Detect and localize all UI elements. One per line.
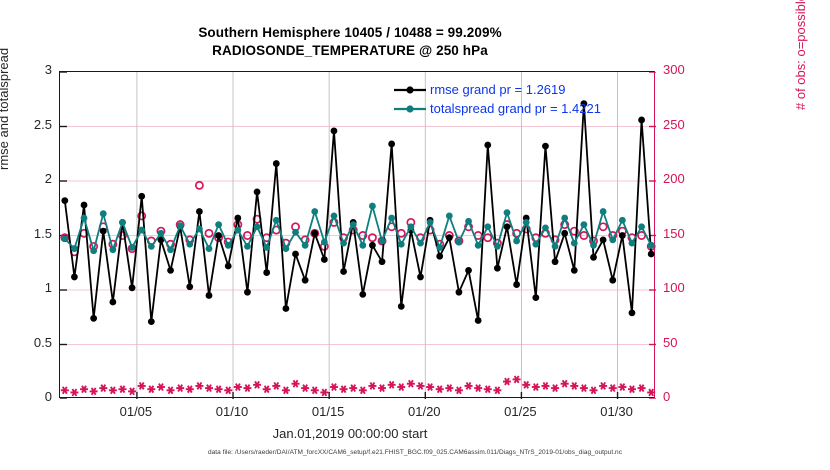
series-point-totalspread-16 [215, 221, 222, 228]
obs-assimilated-marker-11 [167, 387, 175, 394]
y-tick-left-3: 1.5 [8, 226, 52, 241]
series-point-rmse-55 [590, 254, 597, 261]
series-point-rmse-43 [475, 317, 482, 324]
series-point-rmse-15 [206, 292, 213, 299]
series-point-totalspread-4 [100, 210, 107, 217]
series-point-totalspread-13 [186, 241, 193, 248]
series-point-totalspread-44 [484, 223, 491, 230]
series-point-totalspread-9 [148, 243, 155, 250]
obs-assimilated-marker-17 [224, 387, 232, 394]
series-point-rmse-45 [494, 265, 501, 272]
obs-assimilated-marker-47 [513, 376, 521, 383]
obs-assimilated-marker-0 [61, 387, 69, 394]
series-point-totalspread-6 [119, 219, 126, 226]
series-point-totalspread-20 [254, 223, 261, 230]
x-tick-1: 01/10 [197, 404, 267, 419]
series-point-totalspread-12 [177, 222, 184, 229]
y-tick-right-0: 0 [663, 389, 707, 404]
series-point-rmse-27 [321, 256, 328, 263]
series-point-rmse-53 [571, 267, 578, 274]
series-point-rmse-41 [456, 289, 463, 296]
series-point-totalspread-52 [561, 215, 568, 222]
x-axis-label: Jan.01,2019 00:00:00 start [0, 426, 700, 441]
series-point-totalspread-58 [619, 217, 626, 224]
obs-assimilated-marker-21 [263, 386, 271, 393]
series-point-totalspread-41 [456, 239, 463, 246]
series-point-totalspread-61 [648, 242, 655, 249]
series-point-totalspread-18 [234, 227, 241, 234]
series-point-rmse-44 [484, 142, 491, 149]
series-point-rmse-42 [465, 267, 472, 274]
series-point-totalspread-47 [513, 238, 520, 245]
obs-assimilated-marker-2 [80, 386, 88, 393]
series-point-rmse-7 [129, 284, 136, 291]
series-point-rmse-52 [561, 230, 568, 237]
series-point-totalspread-0 [61, 235, 68, 242]
obs-assimilated-marker-27 [320, 389, 328, 396]
series-point-totalspread-39 [436, 244, 443, 251]
obs-assimilated-marker-22 [272, 382, 280, 389]
obs-assimilated-marker-61 [647, 389, 655, 396]
obs-assimilated-marker-12 [176, 385, 184, 392]
x-tick-2: 01/15 [293, 404, 363, 419]
series-point-rmse-0 [61, 197, 68, 204]
series-point-rmse-8 [138, 193, 145, 200]
obs-assimilated-marker-31 [359, 387, 367, 394]
series-point-rmse-39 [436, 253, 443, 260]
obs-possible-marker-56 [600, 223, 607, 230]
obs-assimilated-marker-13 [186, 386, 194, 393]
obs-assimilated-marker-8 [138, 382, 146, 389]
obs-assimilated-marker-51 [551, 385, 559, 392]
series-point-rmse-29 [340, 268, 347, 275]
obs-assimilated-marker-32 [368, 382, 376, 389]
series-point-totalspread-17 [225, 242, 232, 249]
series-point-totalspread-59 [629, 240, 636, 247]
series-point-totalspread-36 [407, 223, 414, 230]
series-point-totalspread-37 [417, 240, 424, 247]
series-point-rmse-58 [619, 232, 626, 239]
y-axis-right-label: # of obs: o=possible; *=assimilated [793, 0, 808, 110]
series-point-totalspread-14 [196, 226, 203, 233]
series-point-totalspread-7 [129, 244, 136, 251]
series-point-rmse-50 [542, 143, 549, 150]
series-point-rmse-25 [302, 277, 309, 284]
series-point-totalspread-35 [398, 241, 405, 248]
obs-assimilated-marker-25 [301, 385, 309, 392]
obs-assimilated-marker-20 [253, 381, 261, 388]
series-point-totalspread-29 [340, 240, 347, 247]
series-point-rmse-19 [244, 289, 251, 296]
legend-label-rmse: rmse grand pr = 1.2619 [430, 82, 566, 97]
chart-legend: rmse grand pr = 1.2619 totalspread grand… [389, 78, 607, 121]
series-point-rmse-2 [81, 202, 88, 209]
series-point-totalspread-3 [90, 247, 97, 254]
y-tick-left-1: 0.5 [8, 335, 52, 350]
obs-assimilated-marker-4 [99, 385, 107, 392]
obs-assimilated-marker-30 [349, 385, 357, 392]
series-point-totalspread-10 [158, 230, 165, 237]
data-file-footer: data file: /Users/raeder/DAI/ATM_forcXX/… [0, 449, 830, 456]
y-tick-left-5: 2.5 [8, 117, 52, 132]
obs-assimilated-marker-58 [618, 384, 626, 391]
obs-assimilated-marker-56 [599, 382, 607, 389]
series-point-totalspread-33 [379, 238, 386, 245]
obs-assimilated-marker-42 [465, 382, 473, 389]
series-point-rmse-31 [359, 291, 366, 298]
series-point-rmse-26 [311, 230, 318, 237]
series-point-totalspread-43 [475, 242, 482, 249]
series-point-rmse-4 [100, 228, 107, 235]
series-point-totalspread-30 [350, 221, 357, 228]
obs-assimilated-marker-5 [109, 387, 117, 394]
obs-assimilated-marker-37 [416, 382, 424, 389]
obs-assimilated-marker-57 [609, 385, 617, 392]
x-tick-0: 01/05 [101, 404, 171, 419]
chart-title-line1: Southern Hemisphere 10405 / 10488 = 99.2… [0, 24, 700, 42]
obs-assimilated-marker-55 [590, 387, 598, 394]
obs-assimilated-marker-34 [388, 381, 396, 388]
obs-assimilated-marker-29 [340, 386, 348, 393]
series-point-totalspread-22 [273, 217, 280, 224]
series-point-rmse-34 [388, 141, 395, 148]
obs-assimilated-marker-9 [147, 386, 155, 393]
legend-item-totalspread[interactable]: totalspread grand pr = 1.4221 [393, 99, 601, 118]
series-point-rmse-60 [638, 117, 645, 124]
obs-assimilated-marker-19 [243, 385, 251, 392]
obs-assimilated-marker-24 [292, 380, 300, 387]
y-tick-right-6: 300 [663, 62, 707, 77]
series-point-rmse-51 [552, 258, 559, 265]
chart-title-line2: RADIOSONDE_TEMPERATURE @ 250 hPa [0, 42, 700, 60]
series-line-rmse [65, 104, 651, 322]
series-point-totalspread-48 [523, 219, 530, 226]
legend-label-totalspread: totalspread grand pr = 1.4221 [430, 101, 601, 116]
obs-assimilated-marker-44 [484, 386, 492, 393]
series-point-rmse-22 [273, 160, 280, 167]
obs-assimilated-marker-23 [282, 387, 290, 394]
obs-assimilated-marker-49 [532, 384, 540, 391]
obs-assimilated-marker-48 [522, 381, 530, 388]
series-point-totalspread-53 [571, 240, 578, 247]
obs-assimilated-marker-46 [503, 378, 511, 385]
obs-assimilated-marker-43 [474, 385, 482, 392]
series-point-rmse-56 [600, 236, 607, 243]
series-point-rmse-33 [379, 258, 386, 265]
series-point-totalspread-38 [427, 219, 434, 226]
y-tick-left-4: 2 [8, 171, 52, 186]
obs-assimilated-marker-54 [580, 385, 588, 392]
obs-assimilated-marker-50 [541, 382, 549, 389]
series-point-totalspread-32 [369, 203, 376, 210]
figure-canvas: Southern Hemisphere 10405 / 10488 = 99.2… [0, 0, 830, 470]
obs-assimilated-marker-18 [234, 384, 242, 391]
series-point-totalspread-25 [302, 242, 309, 249]
series-point-rmse-14 [196, 208, 203, 215]
series-point-rmse-18 [234, 215, 241, 222]
series-point-rmse-40 [446, 234, 453, 241]
series-point-totalspread-26 [311, 208, 318, 215]
obs-assimilated-marker-60 [638, 385, 646, 392]
series-point-rmse-17 [225, 263, 232, 270]
series-point-rmse-24 [292, 251, 299, 258]
series-point-rmse-13 [186, 283, 193, 290]
x-tick-3: 01/20 [389, 404, 459, 419]
series-point-totalspread-34 [388, 215, 395, 222]
series-point-totalspread-1 [71, 245, 78, 252]
obs-assimilated-marker-59 [628, 386, 636, 393]
series-point-totalspread-55 [590, 242, 597, 249]
series-point-rmse-16 [215, 232, 222, 239]
series-point-totalspread-5 [109, 246, 116, 253]
obs-assimilated-marker-15 [205, 385, 213, 392]
chart-title: Southern Hemisphere 10405 / 10488 = 99.2… [0, 24, 700, 60]
y-tick-left-6: 3 [8, 62, 52, 77]
series-point-rmse-20 [254, 189, 261, 196]
obs-assimilated-marker-14 [195, 382, 203, 389]
series-point-rmse-35 [398, 303, 405, 310]
obs-assimilated-marker-41 [455, 387, 463, 394]
obs-assimilated-marker-1 [70, 389, 78, 396]
y-tick-left-0: 0 [8, 389, 52, 404]
series-point-rmse-28 [331, 127, 338, 134]
x-tick-4: 01/25 [485, 404, 555, 419]
obs-assimilated-marker-33 [378, 385, 386, 392]
series-point-totalspread-23 [283, 245, 290, 252]
obs-assimilated-marker-35 [397, 384, 405, 391]
series-point-totalspread-31 [359, 242, 366, 249]
obs-assimilated-marker-16 [215, 386, 223, 393]
series-point-totalspread-54 [581, 221, 588, 228]
series-point-totalspread-42 [465, 218, 472, 225]
series-point-rmse-61 [648, 251, 655, 258]
obs-assimilated-marker-28 [330, 384, 338, 391]
series-point-rmse-46 [504, 223, 511, 230]
obs-assimilated-marker-52 [561, 380, 569, 387]
obs-assimilated-marker-36 [407, 380, 415, 387]
series-point-totalspread-50 [542, 224, 549, 231]
series-point-totalspread-27 [321, 239, 328, 246]
series-point-rmse-11 [167, 267, 174, 274]
x-tick-5: 01/30 [582, 404, 652, 419]
series-point-totalspread-51 [552, 243, 559, 250]
series-point-totalspread-28 [331, 212, 338, 219]
series-point-rmse-9 [148, 318, 155, 325]
series-point-rmse-49 [532, 294, 539, 301]
series-point-rmse-1 [71, 274, 78, 281]
series-point-rmse-57 [609, 277, 616, 284]
series-point-rmse-59 [629, 309, 636, 316]
series-point-rmse-32 [369, 242, 376, 249]
obs-assimilated-marker-3 [90, 388, 98, 395]
obs-assimilated-marker-10 [157, 384, 165, 391]
series-point-rmse-5 [109, 299, 116, 306]
series-point-rmse-23 [283, 305, 290, 312]
y-tick-right-4: 200 [663, 171, 707, 186]
series-point-totalspread-56 [600, 208, 607, 215]
legend-marker-totalspread-icon [393, 102, 427, 116]
series-point-totalspread-24 [292, 229, 299, 236]
series-point-rmse-37 [417, 274, 424, 281]
y-tick-left-2: 1 [8, 280, 52, 295]
obs-assimilated-marker-40 [445, 385, 453, 392]
series-point-totalspread-19 [244, 243, 251, 250]
series-point-totalspread-11 [167, 246, 174, 253]
obs-assimilated-marker-45 [493, 387, 501, 394]
obs-assimilated-marker-7 [128, 388, 136, 395]
y-tick-right-2: 100 [663, 280, 707, 295]
obs-assimilated-marker-38 [426, 384, 434, 391]
series-point-totalspread-60 [638, 223, 645, 230]
series-point-totalspread-57 [609, 236, 616, 243]
obs-assimilated-marker-6 [118, 386, 126, 393]
y-tick-right-3: 150 [663, 226, 707, 241]
y-tick-right-1: 50 [663, 335, 707, 350]
series-point-rmse-47 [513, 281, 520, 288]
series-point-rmse-3 [90, 315, 97, 322]
obs-possible-marker-14 [196, 182, 203, 189]
legend-item-rmse[interactable]: rmse grand pr = 1.2619 [393, 80, 601, 99]
series-point-totalspread-15 [206, 245, 213, 252]
y-axis-left-label: rmse and totalspread [0, 0, 11, 170]
series-point-rmse-21 [263, 269, 270, 276]
obs-assimilated-marker-39 [436, 386, 444, 393]
obs-assimilated-marker-53 [570, 382, 578, 389]
series-point-totalspread-45 [494, 243, 501, 250]
series-point-totalspread-40 [446, 212, 453, 219]
series-point-totalspread-21 [263, 244, 270, 251]
y-tick-right-5: 250 [663, 117, 707, 132]
legend-marker-rmse-icon [393, 83, 427, 97]
series-point-totalspread-8 [138, 227, 145, 234]
obs-assimilated-marker-26 [311, 387, 319, 394]
series-point-totalspread-2 [81, 215, 88, 222]
series-point-totalspread-49 [532, 241, 539, 248]
series-point-totalspread-46 [504, 209, 511, 216]
